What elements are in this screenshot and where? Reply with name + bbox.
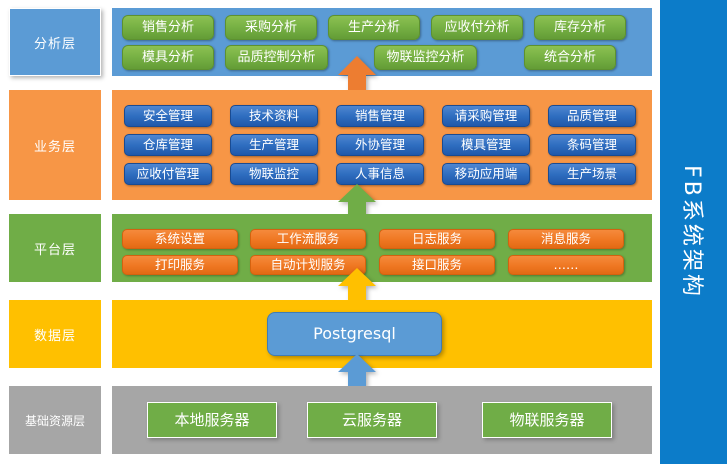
- node-analysis-production[interactable]: 生产分析: [328, 15, 420, 40]
- node-business-sales[interactable]: 销售管理: [336, 105, 424, 127]
- node-analysis-integrated[interactable]: 统合分析: [524, 45, 616, 70]
- node-business-quality[interactable]: 品质管理: [548, 105, 636, 127]
- node-platform-interface-service[interactable]: 接口服务: [379, 255, 495, 275]
- node-platform-system-settings[interactable]: 系统设置: [122, 229, 238, 249]
- node-platform-print-service[interactable]: 打印服务: [122, 255, 238, 275]
- node-platform-message-service[interactable]: 消息服务: [508, 229, 624, 249]
- layer-band-base: 本地服务器 云服务器 物联服务器: [112, 386, 652, 454]
- node-platform-workflow-service[interactable]: 工作流服务: [250, 229, 366, 249]
- node-business-warehouse[interactable]: 仓库管理: [124, 134, 212, 156]
- architecture-diagram: 分析层 销售分析 采购分析 生产分析 应收付分析 库存分析 模具分析 品质控制分…: [0, 0, 727, 464]
- node-analysis-sales[interactable]: 销售分析: [122, 15, 214, 40]
- layer-label-business-text: 业务层: [34, 136, 76, 155]
- node-analysis-iot-monitoring[interactable]: 物联监控分析: [374, 45, 477, 70]
- diagram-title: FB系统架构: [678, 165, 710, 299]
- node-base-iot-server[interactable]: 物联服务器: [482, 402, 612, 438]
- layer-band-platform: 系统设置 工作流服务 日志服务 消息服务 打印服务 自动计划服务 接口服务 ……: [112, 214, 652, 282]
- layer-label-data-text: 数据层: [34, 325, 76, 344]
- node-business-security[interactable]: 安全管理: [124, 105, 212, 127]
- node-data-postgresql[interactable]: Postgresql: [267, 312, 442, 356]
- node-analysis-inventory[interactable]: 库存分析: [534, 15, 626, 40]
- vertical-title-bar: FB系统架构: [660, 0, 727, 464]
- node-business-production[interactable]: 生产管理: [230, 134, 318, 156]
- layer-label-base-text: 基础资源层: [25, 412, 85, 429]
- node-business-hr[interactable]: 人事信息: [336, 163, 424, 185]
- layer-label-platform-text: 平台层: [34, 239, 76, 258]
- layer-band-data: Postgresql: [112, 300, 652, 368]
- node-platform-log-service[interactable]: 日志服务: [379, 229, 495, 249]
- layer-label-analysis-text: 分析层: [34, 33, 76, 52]
- node-base-local-server[interactable]: 本地服务器: [147, 402, 277, 438]
- layer-band-analysis: 销售分析 采购分析 生产分析 应收付分析 库存分析 模具分析 品质控制分析 物联…: [112, 8, 652, 76]
- node-business-receivable-payable[interactable]: 应收付管理: [124, 163, 212, 185]
- layer-band-business: 安全管理 技术资料 销售管理 请采购管理 品质管理 仓库管理 生产管理 外协管理…: [112, 90, 652, 200]
- node-analysis-mold[interactable]: 模具分析: [122, 45, 214, 70]
- node-business-mobile-app[interactable]: 移动应用端: [442, 163, 530, 185]
- node-business-production-scene[interactable]: 生产场景: [548, 163, 636, 185]
- layer-label-data: 数据层: [9, 300, 101, 368]
- layer-label-business: 业务层: [9, 90, 101, 200]
- node-business-purchase-request[interactable]: 请采购管理: [442, 105, 530, 127]
- node-business-technical-docs[interactable]: 技术资料: [230, 105, 318, 127]
- layer-label-platform: 平台层: [9, 214, 101, 282]
- node-platform-more[interactable]: ……: [508, 255, 624, 275]
- node-analysis-receivable-payable[interactable]: 应收付分析: [431, 15, 523, 40]
- node-analysis-quality-control[interactable]: 品质控制分析: [225, 45, 328, 70]
- node-business-iot-monitoring[interactable]: 物联监控: [230, 163, 318, 185]
- node-business-mold[interactable]: 模具管理: [442, 134, 530, 156]
- node-business-barcode[interactable]: 条码管理: [548, 134, 636, 156]
- node-base-cloud-server[interactable]: 云服务器: [307, 402, 437, 438]
- layer-label-analysis: 分析层: [9, 8, 101, 76]
- layer-label-base: 基础资源层: [9, 386, 101, 454]
- node-analysis-purchase[interactable]: 采购分析: [225, 15, 317, 40]
- node-business-outsourcing[interactable]: 外协管理: [336, 134, 424, 156]
